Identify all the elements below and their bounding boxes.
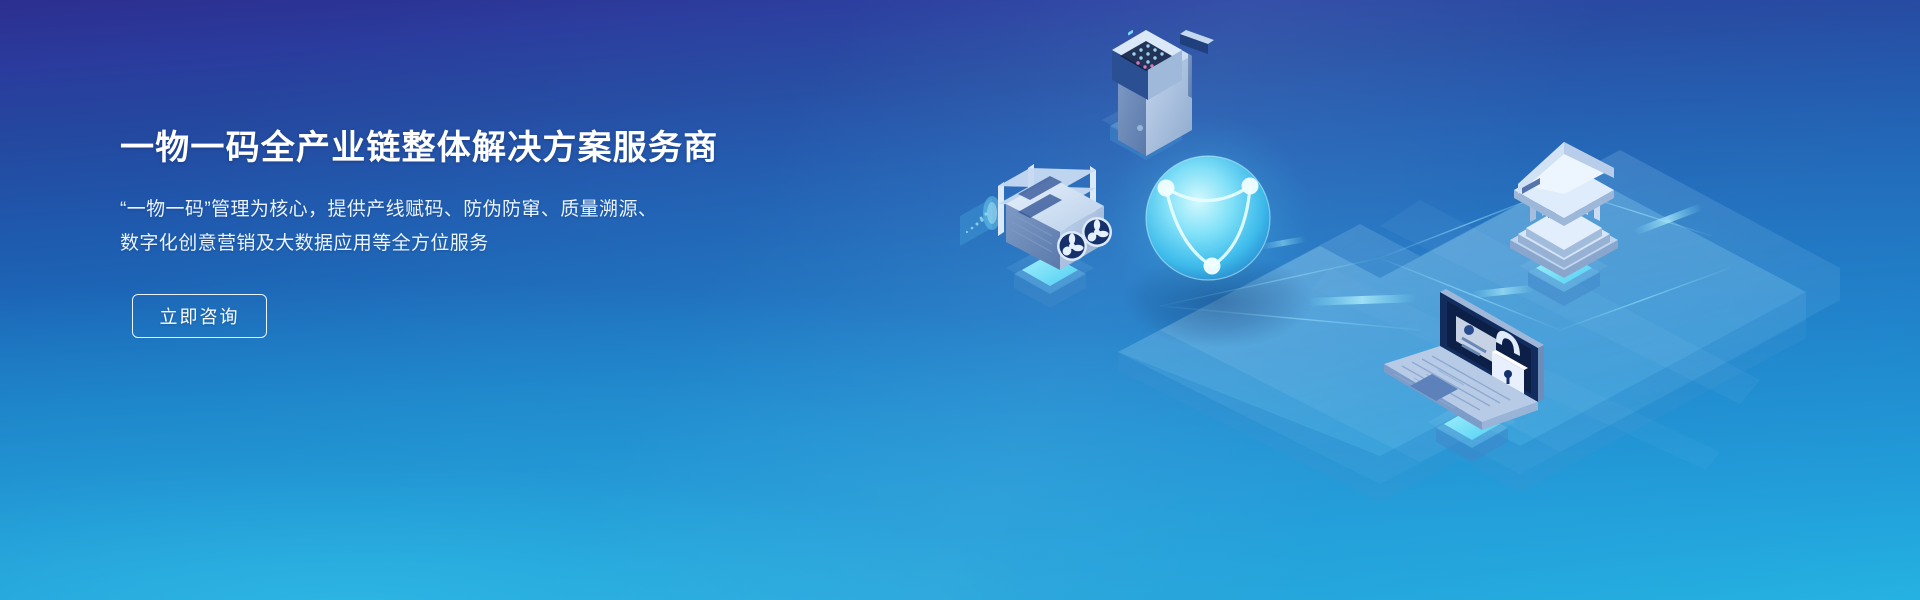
subtitle-line-1: “一物一码”管理为核心，提供产线赋码、防伪防窜、质量溯源、 <box>120 193 760 227</box>
consult-now-button[interactable]: 立即咨询 <box>132 294 267 338</box>
subtitle-line-2: 数字化创意营销及大数据应用等全方位服务 <box>120 227 760 261</box>
hero-illustration <box>860 0 1920 600</box>
hero-copy: 一物一码全产业链整体解决方案服务商 “一物一码”管理为核心，提供产线赋码、防伪防… <box>120 128 760 338</box>
hero-subtitle: “一物一码”管理为核心，提供产线赋码、防伪防窜、质量溯源、 数字化创意营销及大数… <box>120 193 760 261</box>
scan-beam <box>960 196 1001 246</box>
fan-icon <box>1082 217 1112 247</box>
page-title: 一物一码全产业链整体解决方案服务商 <box>120 128 760 169</box>
hero-banner: 一物一码全产业链整体解决方案服务商 “一物一码”管理为核心，提供产线赋码、防伪防… <box>0 0 1920 600</box>
server-fan-rack-icon <box>960 164 1112 270</box>
